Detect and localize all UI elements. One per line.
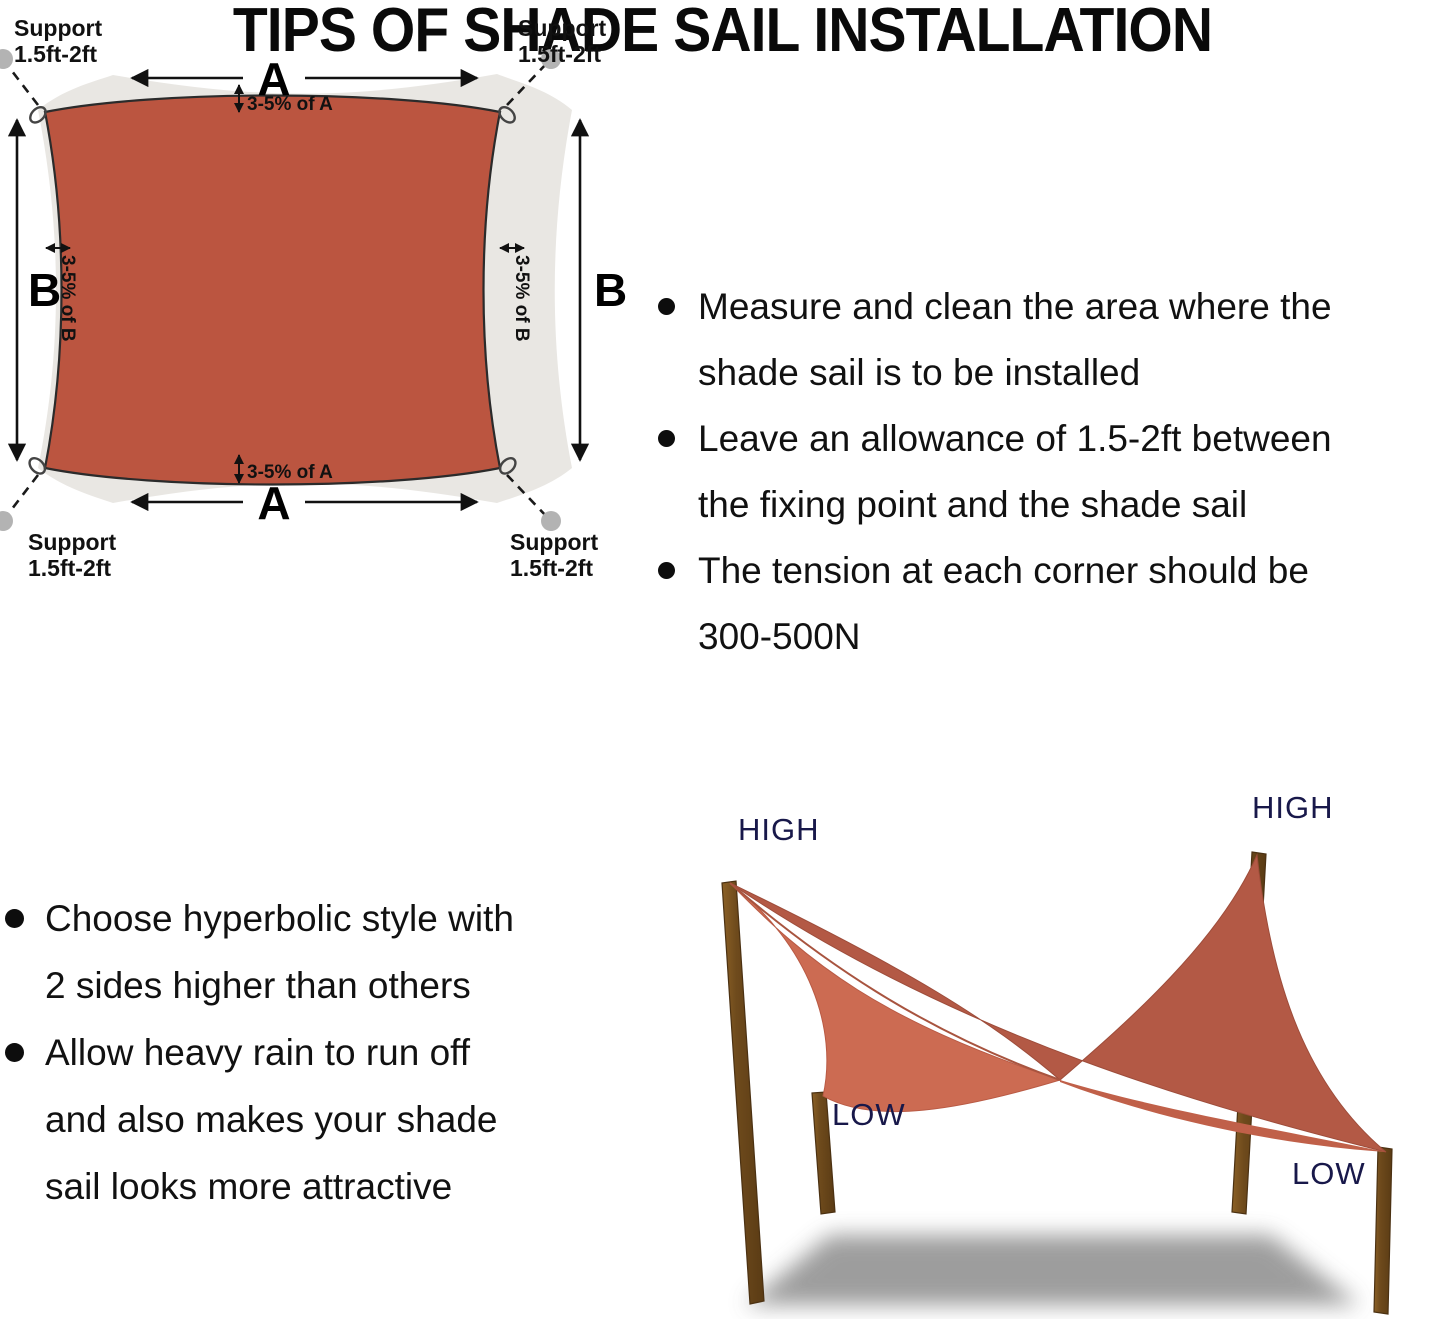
shade-sail-body [45,96,500,485]
tip-line: Allow heavy rain to run off [45,1019,640,1086]
dimension-label-b-left: B [28,264,61,316]
tip-line: the fixing point and the shade sail [698,472,1445,538]
tip-line: Leave an allowance of 1.5-2ft between [698,406,1445,472]
tip-line: sail looks more attractive [45,1153,640,1220]
rectangular-sail-svg: A 3-5% of A A 3-5% of A B [0,0,660,580]
hyperbolic-style-tips-list: Choose hyperbolic style with 2 sides hig… [0,885,640,1220]
support-line-1: Support [14,15,102,41]
tip-line: shade sail is to be installed [698,340,1445,406]
list-item: Choose hyperbolic style with 2 sides hig… [0,885,640,1019]
support-line-1: Support [510,529,598,555]
curvature-label-b-left: 3-5% of B [57,255,78,342]
list-item: Measure and clean the area where the sha… [650,274,1445,406]
label-high-right: HIGH [1252,790,1334,825]
support-anchor-dot [541,511,561,531]
support-label-bottom-left: Support 1.5ft-2ft [28,529,116,580]
support-anchor-dot [0,511,13,531]
dimension-b-right: B [580,120,627,460]
sail-panel-front-left [730,883,1060,1112]
tips-left-ul: Choose hyperbolic style with 2 sides hig… [0,885,640,1220]
installation-tips-list: Measure and clean the area where the sha… [650,274,1445,670]
support-label-top-right: Support 1.5ft-2ft [518,15,606,67]
tip-line: Measure and clean the area where the [698,274,1445,340]
support-label-bottom-right: Support 1.5ft-2ft [510,529,598,580]
bullet-icon [658,298,675,315]
tip-line: and also makes your shade [45,1086,640,1153]
curvature-label-b-right: 3-5% of B [511,255,532,342]
ground-shadow [745,1235,1360,1305]
curvature-label-a-bottom: 3-5% of A [247,462,333,483]
label-low-left: LOW [832,1097,906,1132]
bullet-icon [658,430,675,447]
list-item: The tension at each corner should be 300… [650,538,1445,670]
label-low-right: LOW [1292,1156,1366,1191]
pole-high-left [722,881,764,1304]
support-anchor-dot [0,49,13,69]
tip-line: 300-500N [698,604,1445,670]
hyperbolic-sail-diagram: HIGH HIGH LOW LOW [660,780,1445,1319]
pole-low-right [1374,1147,1392,1314]
tip-line: The tension at each corner should be [698,538,1445,604]
bullet-icon [5,909,24,928]
tip-line: 2 sides higher than others [45,952,640,1019]
list-item: Leave an allowance of 1.5-2ft between th… [650,406,1445,538]
support-line-2: 1.5ft-2ft [28,555,111,580]
label-high-left: HIGH [738,812,820,847]
list-item: Allow heavy rain to run off and also mak… [0,1019,640,1220]
tips-right-ul: Measure and clean the area where the sha… [650,274,1445,670]
support-line-2: 1.5ft-2ft [510,555,593,580]
support-line-2: 1.5ft-2ft [14,41,97,67]
bullet-icon [658,562,675,579]
rectangular-sail-diagram: A 3-5% of A A 3-5% of A B [0,0,660,580]
bullet-icon [5,1043,24,1062]
hyperbolic-sail-svg: HIGH HIGH LOW LOW [660,780,1445,1319]
dimension-label-a-bottom: A [257,477,290,529]
infographic-page: TIPS OF SHADE SAIL INSTALLATION [0,0,1445,1319]
tip-line: Choose hyperbolic style with [45,885,640,952]
support-line-2: 1.5ft-2ft [518,41,601,67]
dimension-label-b-right: B [594,264,627,316]
curvature-label-a-top: 3-5% of A [247,94,333,115]
support-label-top-left: Support 1.5ft-2ft [14,15,102,67]
support-line-1: Support [28,529,116,555]
support-line-1: Support [518,15,606,41]
